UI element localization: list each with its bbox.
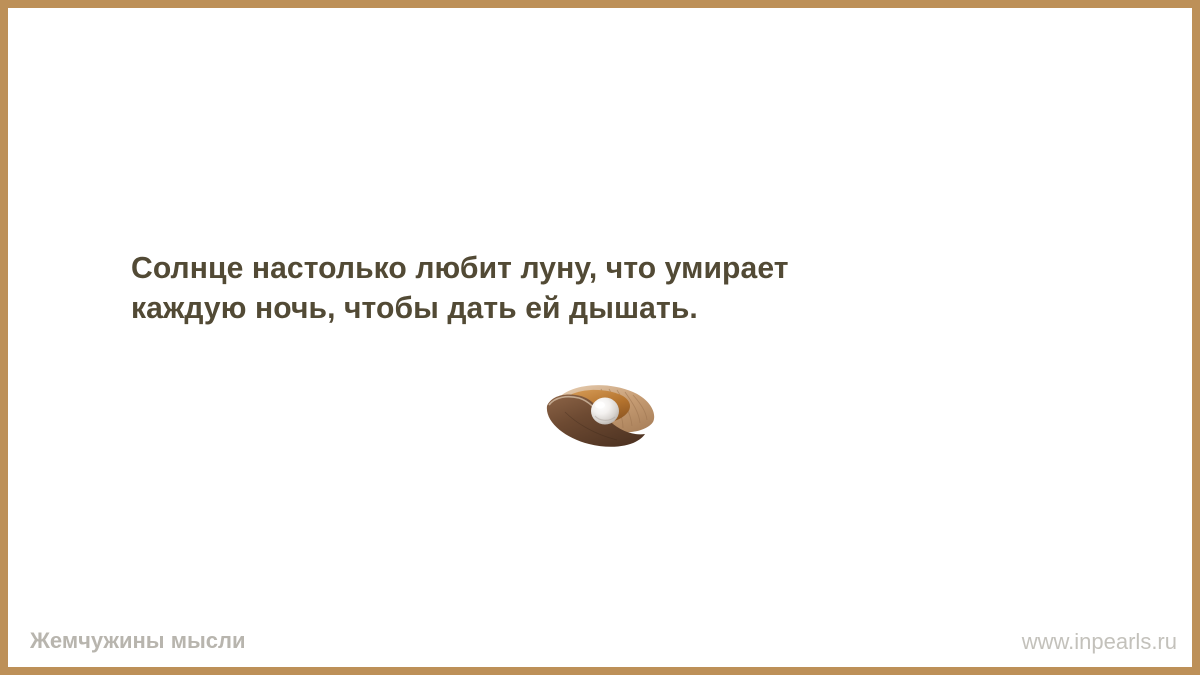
oyster-shell-icon bbox=[541, 378, 661, 452]
site-url[interactable]: www.inpearls.ru bbox=[1022, 629, 1177, 655]
quote-line-1: Солнце настолько любит луну, что умирает bbox=[131, 248, 1062, 288]
pearl-highlight bbox=[595, 401, 605, 408]
oyster-shell-with-pearl-image bbox=[541, 378, 661, 452]
quote-text: Солнце настолько любит луну, что умирает… bbox=[131, 248, 1062, 328]
quote-card: Солнце настолько любит луну, что умирает… bbox=[0, 0, 1200, 675]
site-name: Жемчужины мысли bbox=[30, 628, 246, 654]
quote-line-2: каждую ночь, чтобы дать ей дышать. bbox=[131, 288, 1062, 328]
